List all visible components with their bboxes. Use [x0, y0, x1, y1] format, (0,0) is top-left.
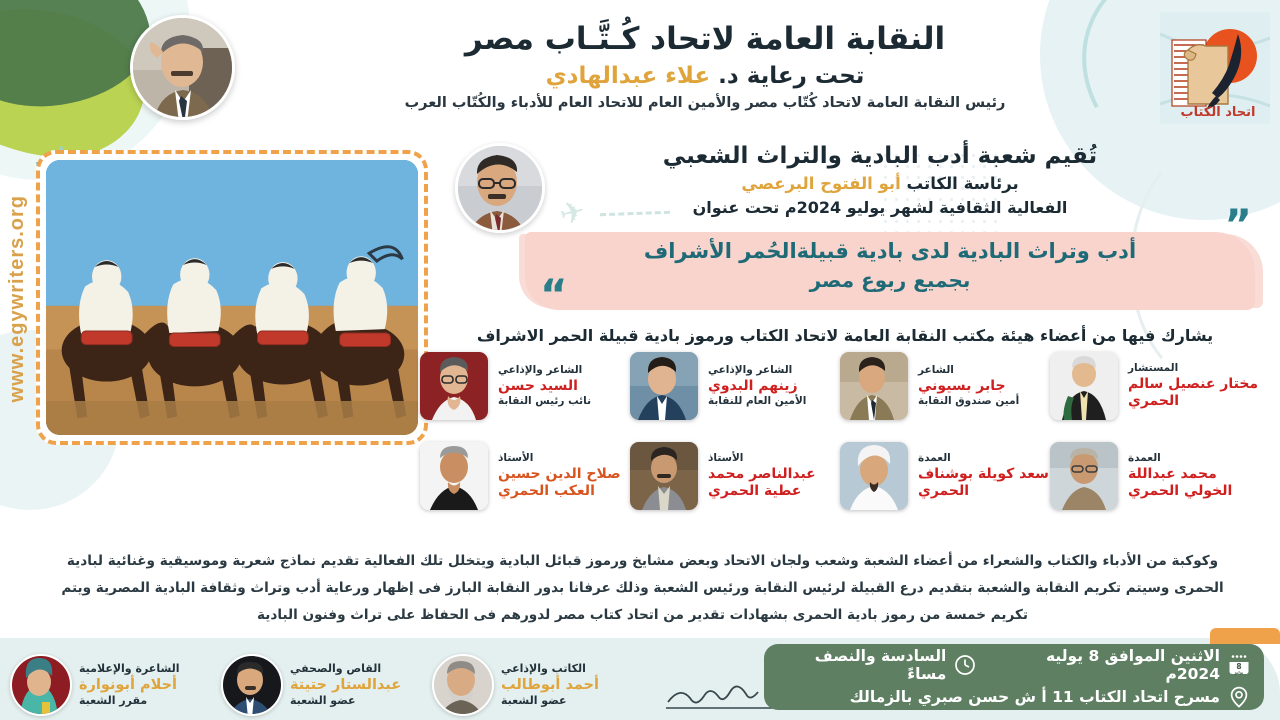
- section-head-portrait: [455, 143, 545, 233]
- quote-close-icon: ”: [1224, 212, 1252, 237]
- participant-photo: [840, 442, 908, 510]
- participant-name: زينهم البدوي: [708, 378, 840, 395]
- participant-card: الأستاذ عبدالناصر محمد عطية الحمري: [630, 442, 840, 510]
- patron-name: علاء عبدالهادي: [546, 63, 711, 89]
- event-poster: ✈ www.egywriters.org النقابة العامة لاتح…: [0, 0, 1280, 720]
- participant-photo: [420, 442, 488, 510]
- committee-members: الكاتب والإذاعي أحمد أبوطالب عضو الشعبة …: [10, 654, 637, 716]
- participant-title: الشاعر والإذاعي: [498, 364, 630, 377]
- event-title-line-1: أدب وتراث البادية لدى بادية قبيلةالحُمر …: [525, 236, 1255, 266]
- committee-member-text: الكاتب والإذاعي أحمد أبوطالب عضو الشعبة: [501, 662, 637, 709]
- event-date: الاثنين الموافق 8 يوليه 2024م: [996, 647, 1220, 683]
- committee-member-card: القاص والصحفي عبدالستار حتيتة عضو الشعبة: [221, 654, 426, 716]
- participant-title: المستشار: [1128, 362, 1260, 375]
- participant-name: جابر بسيوني: [918, 378, 1050, 395]
- committee-member-card: الكاتب والإذاعي أحمد أبوطالب عضو الشعبة: [432, 654, 637, 716]
- committee-member-photo: [221, 654, 283, 716]
- participant-card: الشاعر والإذاعي زينهم البدوي الأمين العا…: [630, 352, 840, 420]
- decor-orange-tab: [1210, 628, 1280, 644]
- participant-photo-image: [420, 352, 488, 420]
- participant-card: الشاعر والإذاعي السيد حسن نائب رئيس النق…: [420, 352, 630, 420]
- participant-role: الأمين العام للنقابة: [708, 395, 840, 408]
- participant-text: العمدة محمد عبداللة الخولي الحمري: [1126, 452, 1260, 500]
- participant-photo: [1050, 352, 1118, 420]
- committee-member-card: الشاعرة والإعلامية أحلام أبونوارة مقرر ا…: [10, 654, 215, 716]
- participant-name: مختار عنصيل سالم الحمري: [1128, 376, 1260, 409]
- participant-name: السيد حسن: [498, 378, 630, 395]
- participant-name: صلاح الدين حسين العكب الحمري: [498, 466, 630, 499]
- event-title-banner: أدب وتراث البادية لدى بادية قبيلةالحُمر …: [525, 236, 1255, 292]
- committee-member-role: عضو الشعبة: [290, 694, 426, 708]
- participant-title: العمدة: [1128, 452, 1260, 465]
- section-chair-name: أبو الفتوح البرعصي: [741, 174, 900, 193]
- event-venue: مسرح اتحاد الكتاب 11 أ ش حسن صبري بالزما…: [850, 688, 1220, 706]
- committee-member-photo-image: [221, 656, 281, 716]
- clock-icon: [954, 654, 976, 676]
- participant-photo: [420, 352, 488, 420]
- event-title-line-2: بجميع ربوع مصر: [525, 268, 1255, 292]
- participant-title: العمدة: [918, 452, 1050, 465]
- section-line-3: الفعالية الثقافية لشهر يوليو 2024م تحت ع…: [560, 198, 1200, 217]
- participant-role: أمين صندوق النقابة: [918, 395, 1050, 408]
- participant-text: الشاعر جابر بسيوني أمين صندوق النقابة: [916, 364, 1050, 409]
- committee-member-text: الشاعرة والإعلامية أحلام أبونوارة مقرر ا…: [79, 662, 215, 709]
- participant-card: الشاعر جابر بسيوني أمين صندوق النقابة: [840, 352, 1050, 420]
- section-announcement: تُقيم شعبة أدب البادية والتراث الشعبي بر…: [560, 143, 1200, 217]
- section-chair-prefix: برئاسة الكاتب: [907, 174, 1019, 193]
- section-line-1: تُقيم شعبة أدب البادية والتراث الشعبي: [560, 143, 1200, 169]
- participant-photo: [630, 352, 698, 420]
- participant-name: محمد عبداللة الخولي الحمري: [1128, 466, 1260, 499]
- participant-title: الشاعر والإذاعي: [708, 364, 840, 377]
- location-pin-icon: [1228, 686, 1250, 708]
- participant-photo-image: [840, 442, 908, 510]
- committee-member-photo: [10, 654, 72, 716]
- participant-title: الأستاذ: [708, 452, 840, 465]
- participant-photo-image: [630, 352, 698, 420]
- committee-member-text: القاص والصحفي عبدالستار حتيتة عضو الشعبة: [290, 662, 426, 709]
- committee-member-photo-image: [10, 656, 70, 716]
- main-photo: [46, 160, 418, 435]
- committee-member-name: عبدالستار حتيتة: [290, 676, 426, 694]
- committee-member-title: الشاعرة والإعلامية: [79, 662, 215, 676]
- participant-card: المستشار مختار عنصيل سالم الحمري: [1050, 352, 1260, 420]
- svg-text:يوليو: يوليو: [1234, 670, 1244, 674]
- svg-text:اتحاد الكتاب: اتحاد الكتاب: [1181, 105, 1256, 120]
- patron-portrait: [130, 15, 235, 120]
- participant-photo-image: [1050, 352, 1118, 420]
- participant-title: الأستاذ: [498, 452, 630, 465]
- participant-role: نائب رئيس النقابة: [498, 395, 630, 408]
- header-titles: النقابة العامة لاتحاد كُـتَّـاب مصر تحت …: [255, 22, 1155, 111]
- participant-card: الأستاذ صلاح الدين حسين العكب الحمري: [420, 442, 630, 510]
- committee-member-photo-image: [432, 656, 492, 716]
- participant-photo-image: [420, 442, 488, 510]
- cavalry-photo-image: [46, 160, 418, 435]
- participants-row-2: العمدة محمد عبداللة الخولي الحمري العمدة: [420, 442, 1260, 510]
- committee-member-name: أحلام أبونوارة: [79, 676, 215, 694]
- main-photo-frame: [36, 150, 428, 445]
- participant-title: الشاعر: [918, 364, 1050, 377]
- website-url[interactable]: www.egywriters.org: [6, 195, 29, 402]
- patron-role: رئيس النقابة العامة لاتحاد كُتّاب مصر وا…: [255, 95, 1155, 111]
- patron-line: تحت رعاية د. علاء عبدالهادي: [255, 63, 1155, 89]
- committee-member-name: أحمد أبوطالب: [501, 676, 637, 694]
- participant-text: العمدة سعد كويلة بوشناف الحمري: [916, 452, 1050, 500]
- participant-card: العمدة سعد كويلة بوشناف الحمري: [840, 442, 1050, 510]
- participant-text: الشاعر والإذاعي زينهم البدوي الأمين العا…: [706, 364, 840, 409]
- event-datetime-line: 8 يوليو الاثنين الموافق 8 يوليه 2024م ال…: [778, 647, 1250, 683]
- participant-name: سعد كويلة بوشناف الحمري: [918, 466, 1050, 499]
- participant-text: الأستاذ عبدالناصر محمد عطية الحمري: [706, 452, 840, 500]
- union-logo: اتحاد الكتاب: [1160, 12, 1270, 124]
- union-logo-icon: اتحاد الكتاب: [1160, 12, 1270, 124]
- participant-photo: [1050, 442, 1118, 510]
- participant-name: عبدالناصر محمد عطية الحمري: [708, 466, 840, 499]
- org-title: النقابة العامة لاتحاد كُـتَّـاب مصر: [255, 22, 1155, 57]
- section-head-image: [455, 146, 542, 233]
- participant-photo-image: [840, 352, 908, 420]
- event-info-pill: 8 يوليو الاثنين الموافق 8 يوليه 2024م ال…: [764, 644, 1264, 710]
- committee-member-title: القاص والصحفي: [290, 662, 426, 676]
- quote-open-icon: “: [540, 282, 568, 307]
- participant-card: العمدة محمد عبداللة الخولي الحمري: [1050, 442, 1260, 510]
- participant-photo-image: [1050, 442, 1118, 510]
- participant-text: الشاعر والإذاعي السيد حسن نائب رئيس النق…: [496, 364, 630, 409]
- section-line-2: برئاسة الكاتب أبو الفتوح البرعصي: [560, 174, 1200, 193]
- patron-portrait-image: [130, 18, 232, 120]
- participant-photo: [840, 352, 908, 420]
- event-venue-line: مسرح اتحاد الكتاب 11 أ ش حسن صبري بالزما…: [778, 686, 1250, 708]
- participants-intro: يشارك فيها من أعضاء هيئة مكتب النقابة ال…: [430, 326, 1260, 345]
- committee-member-title: الكاتب والإذاعي: [501, 662, 637, 676]
- committee-member-role: عضو الشعبة: [501, 694, 637, 708]
- committee-member-role: مقرر الشعبة: [79, 694, 215, 708]
- participants-row-1: المستشار مختار عنصيل سالم الحمري الشاعر …: [420, 352, 1260, 420]
- event-time: السادسة والنصف مساءً: [778, 647, 946, 683]
- calendar-icon: 8 يوليو: [1228, 654, 1250, 676]
- patron-prefix: تحت رعاية د.: [718, 63, 864, 89]
- participant-photo: [630, 442, 698, 510]
- participant-text: الأستاذ صلاح الدين حسين العكب الحمري: [496, 452, 630, 500]
- body-paragraph: وكوكبة من الأدباء والكتاب والشعراء من أع…: [45, 548, 1240, 630]
- participant-photo-image: [630, 442, 698, 510]
- participant-text: المستشار مختار عنصيل سالم الحمري: [1126, 362, 1260, 410]
- committee-member-photo: [432, 654, 494, 716]
